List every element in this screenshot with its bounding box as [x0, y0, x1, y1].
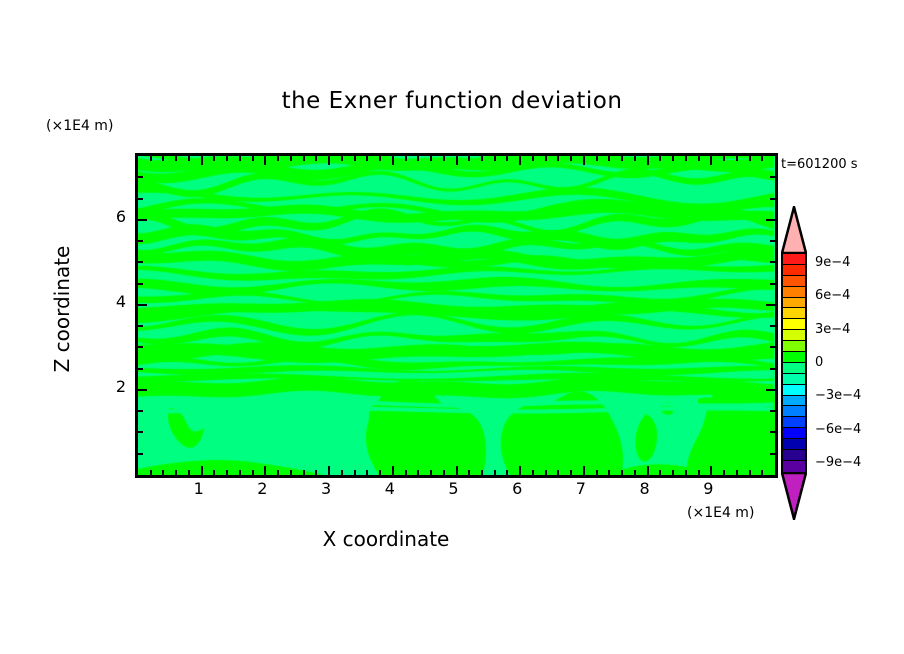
x-axis-minor-tick — [685, 156, 687, 161]
y-axis-minor-tick — [138, 431, 143, 433]
x-axis-minor-tick — [736, 470, 738, 475]
x-axis-minor-tick — [213, 156, 215, 161]
x-axis-tick — [710, 156, 712, 165]
x-axis-minor-tick — [430, 156, 432, 161]
x-axis-minor-tick — [226, 156, 228, 161]
x-axis-minor-tick — [596, 470, 598, 475]
y-axis-unit-label: (×1E4 m) — [46, 118, 113, 134]
x-axis-tick — [264, 156, 266, 165]
colorbar-band — [783, 352, 805, 363]
y-axis-minor-tick — [138, 325, 143, 327]
x-axis-minor-tick — [634, 156, 636, 161]
x-axis-minor-tick — [736, 156, 738, 161]
x-axis-minor-tick — [506, 156, 508, 161]
x-axis-tick — [710, 466, 712, 475]
colorbar-band — [783, 396, 805, 407]
x-axis-tick-label: 4 — [375, 479, 405, 498]
x-axis-minor-tick — [596, 156, 598, 161]
y-axis-tick — [138, 219, 147, 221]
colorbar-band — [783, 254, 805, 265]
colorbar-over-arrow — [781, 206, 807, 254]
y-axis-tick-label: 6 — [104, 207, 126, 226]
y-axis-tick — [138, 389, 147, 391]
x-axis-minor-tick — [506, 470, 508, 475]
x-axis-tick — [201, 466, 203, 475]
x-axis-minor-tick — [698, 470, 700, 475]
colorbar-under-arrow — [781, 472, 807, 520]
colorbar-tick-label: −3e−4 — [815, 388, 861, 403]
y-axis-minor-tick — [770, 283, 775, 285]
x-axis-tick-label: 8 — [630, 479, 660, 498]
x-axis-minor-tick — [749, 156, 751, 161]
x-axis-minor-tick — [430, 470, 432, 475]
colorbar-band — [783, 374, 805, 385]
x-axis-tick — [328, 156, 330, 165]
colorbar — [781, 206, 807, 520]
x-axis-tick — [392, 156, 394, 165]
x-axis-minor-tick — [672, 470, 674, 475]
x-axis-minor-tick — [226, 470, 228, 475]
x-axis-minor-tick — [175, 470, 177, 475]
x-axis-tick — [519, 156, 521, 165]
y-axis-minor-tick — [138, 176, 143, 178]
x-axis-minor-tick — [545, 156, 547, 161]
y-axis-tick-label: 4 — [104, 292, 126, 311]
x-axis-tick-label: 9 — [693, 479, 723, 498]
x-axis-minor-tick — [443, 156, 445, 161]
x-axis-minor-tick — [290, 470, 292, 475]
y-axis-tick — [138, 304, 147, 306]
x-axis-tick-label: 2 — [247, 479, 277, 498]
y-axis-tick — [766, 219, 775, 221]
y-axis-title: Z coordinate — [50, 219, 74, 399]
colorbar-band — [783, 428, 805, 439]
plot-area — [135, 153, 778, 478]
x-axis-minor-tick — [188, 470, 190, 475]
y-axis-minor-tick — [138, 283, 143, 285]
x-axis-tick — [647, 466, 649, 475]
x-axis-minor-tick — [570, 156, 572, 161]
x-axis-minor-tick — [532, 470, 534, 475]
x-axis-tick — [392, 466, 394, 475]
page-title: the Exner function deviation — [0, 88, 904, 114]
x-axis-minor-tick — [723, 156, 725, 161]
x-axis-minor-tick — [723, 470, 725, 475]
x-axis-minor-tick — [315, 156, 317, 161]
x-axis-tick — [456, 156, 458, 165]
colorbar-band — [783, 298, 805, 309]
colorbar-tick-label: 9e−4 — [815, 255, 850, 270]
x-axis-minor-tick — [468, 470, 470, 475]
y-axis-minor-tick — [770, 240, 775, 242]
x-axis-minor-tick — [532, 156, 534, 161]
y-axis-minor-tick — [138, 346, 143, 348]
x-axis-minor-tick — [162, 470, 164, 475]
x-axis-tick-label: 1 — [184, 479, 214, 498]
x-axis-minor-tick — [405, 156, 407, 161]
x-axis-minor-tick — [761, 470, 763, 475]
colorbar-band — [783, 308, 805, 319]
x-axis-minor-tick — [162, 156, 164, 161]
x-axis-minor-tick — [379, 156, 381, 161]
x-axis-minor-tick — [443, 470, 445, 475]
y-axis-minor-tick — [770, 346, 775, 348]
x-axis-minor-tick — [468, 156, 470, 161]
x-axis-minor-tick — [494, 470, 496, 475]
x-axis-minor-tick — [698, 156, 700, 161]
y-axis-minor-tick — [770, 431, 775, 433]
x-axis-minor-tick — [494, 156, 496, 161]
x-axis-minor-tick — [354, 470, 356, 475]
x-axis-tick-label: 5 — [439, 479, 469, 498]
x-axis-minor-tick — [341, 470, 343, 475]
x-axis-minor-tick — [290, 156, 292, 161]
x-axis-unit-label: (×1E4 m) — [687, 505, 754, 521]
x-axis-minor-tick — [175, 156, 177, 161]
y-axis-minor-tick — [138, 410, 143, 412]
colorbar-band — [783, 406, 805, 417]
x-axis-tick-label: 3 — [311, 479, 341, 498]
y-axis-tick-label: 2 — [104, 377, 126, 396]
colorbar-band — [783, 385, 805, 396]
x-axis-minor-tick — [252, 470, 254, 475]
x-axis-minor-tick — [315, 470, 317, 475]
colorbar-band — [783, 363, 805, 374]
x-axis-minor-tick — [150, 156, 152, 161]
figure-canvas: the Exner function deviation (×1E4 m) (×… — [0, 0, 904, 654]
x-axis-tick-label: 7 — [566, 479, 596, 498]
colorbar-band — [783, 276, 805, 287]
x-axis-minor-tick — [557, 156, 559, 161]
x-axis-minor-tick — [481, 156, 483, 161]
x-axis-tick — [328, 466, 330, 475]
colorbar-tick-label: 0 — [815, 355, 823, 370]
colorbar-band — [783, 461, 805, 472]
x-axis-minor-tick — [749, 470, 751, 475]
x-axis-minor-tick — [481, 470, 483, 475]
x-axis-minor-tick — [672, 156, 674, 161]
x-axis-minor-tick — [417, 156, 419, 161]
x-axis-minor-tick — [150, 470, 152, 475]
x-axis-minor-tick — [239, 156, 241, 161]
y-axis-minor-tick — [770, 368, 775, 370]
colorbar-band — [783, 417, 805, 428]
x-axis-minor-tick — [685, 470, 687, 475]
colorbar-band — [783, 330, 805, 341]
x-axis-minor-tick — [366, 470, 368, 475]
x-axis-minor-tick — [608, 156, 610, 161]
colorbar-band — [783, 319, 805, 330]
x-axis-minor-tick — [621, 470, 623, 475]
x-axis-minor-tick — [659, 156, 661, 161]
x-axis-minor-tick — [303, 156, 305, 161]
colorbar-band — [783, 341, 805, 352]
x-axis-minor-tick — [621, 156, 623, 161]
colorbar-tick-label: −6e−4 — [815, 422, 861, 437]
x-axis-minor-tick — [188, 156, 190, 161]
y-axis-minor-tick — [138, 368, 143, 370]
y-axis-minor-tick — [770, 198, 775, 200]
x-axis-minor-tick — [405, 470, 407, 475]
y-axis-minor-tick — [770, 453, 775, 455]
x-axis-tick-label: 6 — [502, 479, 532, 498]
x-axis-minor-tick — [608, 470, 610, 475]
y-axis-minor-tick — [770, 176, 775, 178]
y-axis-minor-tick — [138, 198, 143, 200]
colorbar-band — [783, 450, 805, 461]
y-axis-minor-tick — [770, 261, 775, 263]
x-axis-minor-tick — [379, 470, 381, 475]
x-axis-minor-tick — [557, 470, 559, 475]
x-axis-tick — [583, 156, 585, 165]
x-axis-tick — [264, 466, 266, 475]
y-axis-minor-tick — [770, 410, 775, 412]
y-axis-tick — [766, 304, 775, 306]
contour-plot — [138, 156, 775, 475]
x-axis-minor-tick — [761, 156, 763, 161]
colorbar-bands — [781, 252, 807, 474]
x-axis-minor-tick — [252, 156, 254, 161]
y-axis-minor-tick — [770, 325, 775, 327]
colorbar-tick-label: 3e−4 — [815, 322, 850, 337]
x-axis-minor-tick — [239, 470, 241, 475]
y-axis-minor-tick — [138, 453, 143, 455]
x-axis-minor-tick — [303, 470, 305, 475]
x-axis-minor-tick — [341, 156, 343, 161]
x-axis-minor-tick — [570, 470, 572, 475]
x-axis-minor-tick — [417, 470, 419, 475]
x-axis-tick — [456, 466, 458, 475]
x-axis-minor-tick — [659, 470, 661, 475]
x-axis-minor-tick — [634, 470, 636, 475]
y-axis-tick — [766, 389, 775, 391]
colorbar-band — [783, 439, 805, 450]
colorbar-band — [783, 287, 805, 298]
x-axis-tick — [583, 466, 585, 475]
y-axis-minor-tick — [138, 261, 143, 263]
colorbar-tick-label: 6e−4 — [815, 288, 850, 303]
x-axis-minor-tick — [366, 156, 368, 161]
y-axis-minor-tick — [138, 240, 143, 242]
x-axis-minor-tick — [277, 156, 279, 161]
x-axis-title: X coordinate — [0, 527, 904, 551]
x-axis-minor-tick — [545, 470, 547, 475]
x-axis-tick — [519, 466, 521, 475]
colorbar-tick-label: −9e−4 — [815, 455, 861, 470]
x-axis-minor-tick — [213, 470, 215, 475]
x-axis-minor-tick — [277, 470, 279, 475]
colorbar-band — [783, 265, 805, 276]
x-axis-tick — [201, 156, 203, 165]
time-annotation: t=601200 s — [781, 157, 858, 172]
x-axis-tick — [647, 156, 649, 165]
x-axis-minor-tick — [354, 156, 356, 161]
